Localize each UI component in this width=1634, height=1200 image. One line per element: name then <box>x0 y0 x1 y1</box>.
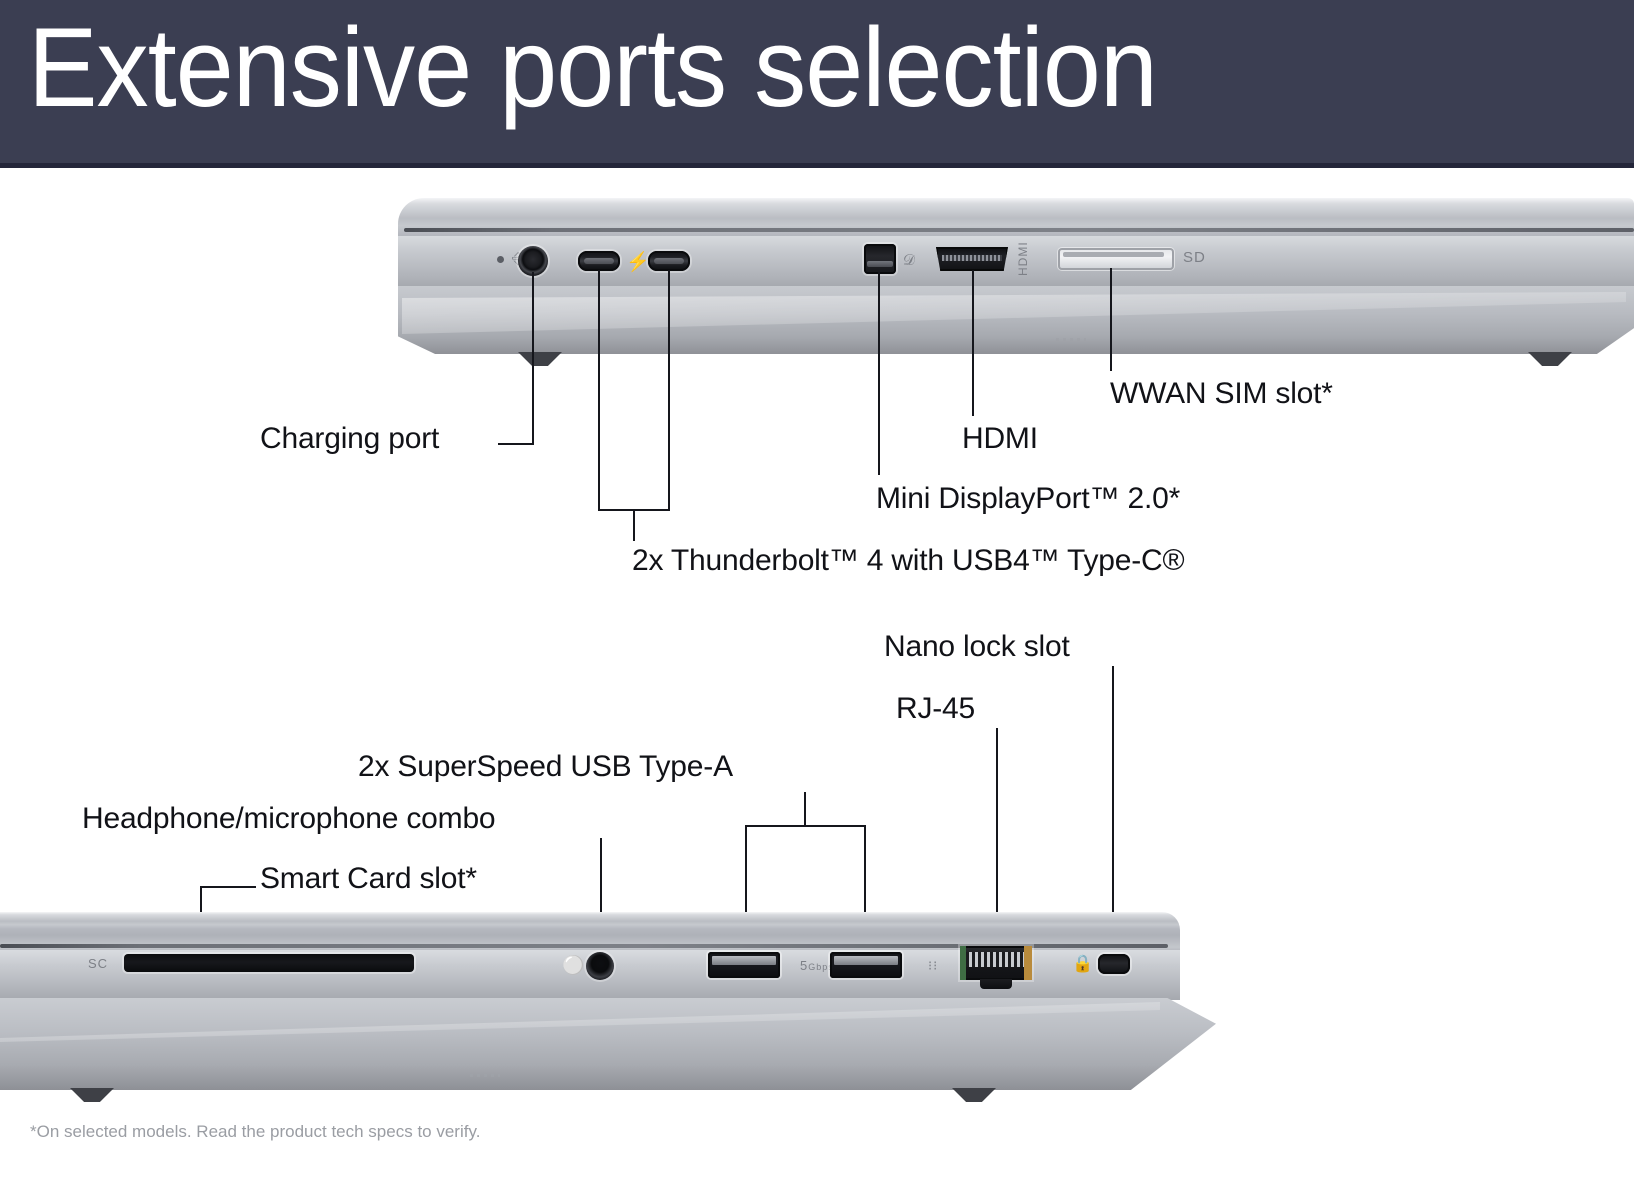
thunderbolt-bolt-icon: ⚡ <box>626 250 651 274</box>
displayport-icon: 𝒟 <box>903 252 916 269</box>
headset-icon: ⚪ <box>562 955 585 976</box>
label-nano-lock-slot: Nano lock slot <box>884 630 1070 664</box>
ports-infographic: Extensive ports selection ⎆ ⚡ 𝒟 HDMI SD <box>0 0 1634 1200</box>
leader-thunderbolt-2 <box>668 270 670 510</box>
leader-hdmi <box>972 270 974 416</box>
bottom-laptop-foot-right <box>952 1088 996 1102</box>
bottom-laptop-vent <box>470 1074 500 1077</box>
top-laptop-vent <box>1056 338 1086 341</box>
usb-superspeed-5gbps-icon: 5Gbps <box>800 958 834 973</box>
leader-thunderbolt-1 <box>598 270 600 510</box>
smart-card-slot[interactable] <box>124 954 414 972</box>
leader-usba-stem <box>804 792 806 826</box>
top-laptop-foot-right <box>1528 352 1572 366</box>
leader-mini-displayport <box>878 272 880 475</box>
leader-thunderbolt-stem <box>633 509 635 541</box>
footnote-text: *On selected models. Read the product te… <box>30 1122 480 1142</box>
label-wwan-sim-slot: WWAN SIM slot* <box>1110 377 1333 411</box>
label-rj45: RJ-45 <box>896 692 975 726</box>
wwan-sim-sd-slot[interactable] <box>1058 248 1174 270</box>
label-usb-type-a: 2x SuperSpeed USB Type-A <box>358 750 733 784</box>
power-led-indicator <box>497 256 504 263</box>
top-laptop-lid-seam <box>404 228 1634 232</box>
label-thunderbolt: 2x Thunderbolt™ 4 with USB4™ Type-C® <box>632 544 1184 578</box>
hdmi-port[interactable] <box>936 247 1008 271</box>
rj45-ethernet-port[interactable] <box>960 946 1032 980</box>
label-charging-port: Charging port <box>260 422 439 456</box>
ethernet-icon: ⁝⁝ <box>928 958 938 974</box>
rj45-left-edge <box>960 946 966 980</box>
thunderbolt-port-1[interactable] <box>578 251 620 271</box>
usb-type-a-port-2[interactable] <box>830 952 902 978</box>
thunderbolt-port-2[interactable] <box>648 251 690 271</box>
mini-displayport[interactable] <box>864 244 896 274</box>
usb-type-a-port-1[interactable] <box>708 952 780 978</box>
page-title: Extensive ports selection <box>28 12 1157 124</box>
label-smart-card-slot: Smart Card slot* <box>260 862 477 896</box>
leader-smart-card-horizontal <box>200 886 256 888</box>
header-banner: Extensive ports selection <box>0 0 1634 168</box>
sd-label-engraving: SD <box>1183 249 1206 266</box>
label-headphone-combo: Headphone/microphone combo <box>82 802 495 836</box>
top-laptop-foot-left <box>518 352 562 366</box>
rj45-right-edge <box>1024 946 1032 980</box>
leader-charging-port-horizontal <box>498 443 534 445</box>
hdmi-label-engraving: HDMI <box>1016 241 1030 276</box>
leader-wwan-sim <box>1110 268 1112 371</box>
label-mini-displayport: Mini DisplayPort™ 2.0* <box>876 482 1180 516</box>
padlock-icon: 🔒 <box>1072 954 1094 974</box>
nano-lock-slot[interactable] <box>1098 954 1130 974</box>
bottom-laptop-foot-left <box>70 1088 114 1102</box>
headphone-microphone-combo-jack[interactable] <box>586 952 614 980</box>
smartcard-label-engraving: SC <box>88 956 108 971</box>
label-hdmi: HDMI <box>962 422 1038 456</box>
rj45-latch-tab <box>980 979 1012 989</box>
leader-charging-port-vertical <box>532 272 534 444</box>
